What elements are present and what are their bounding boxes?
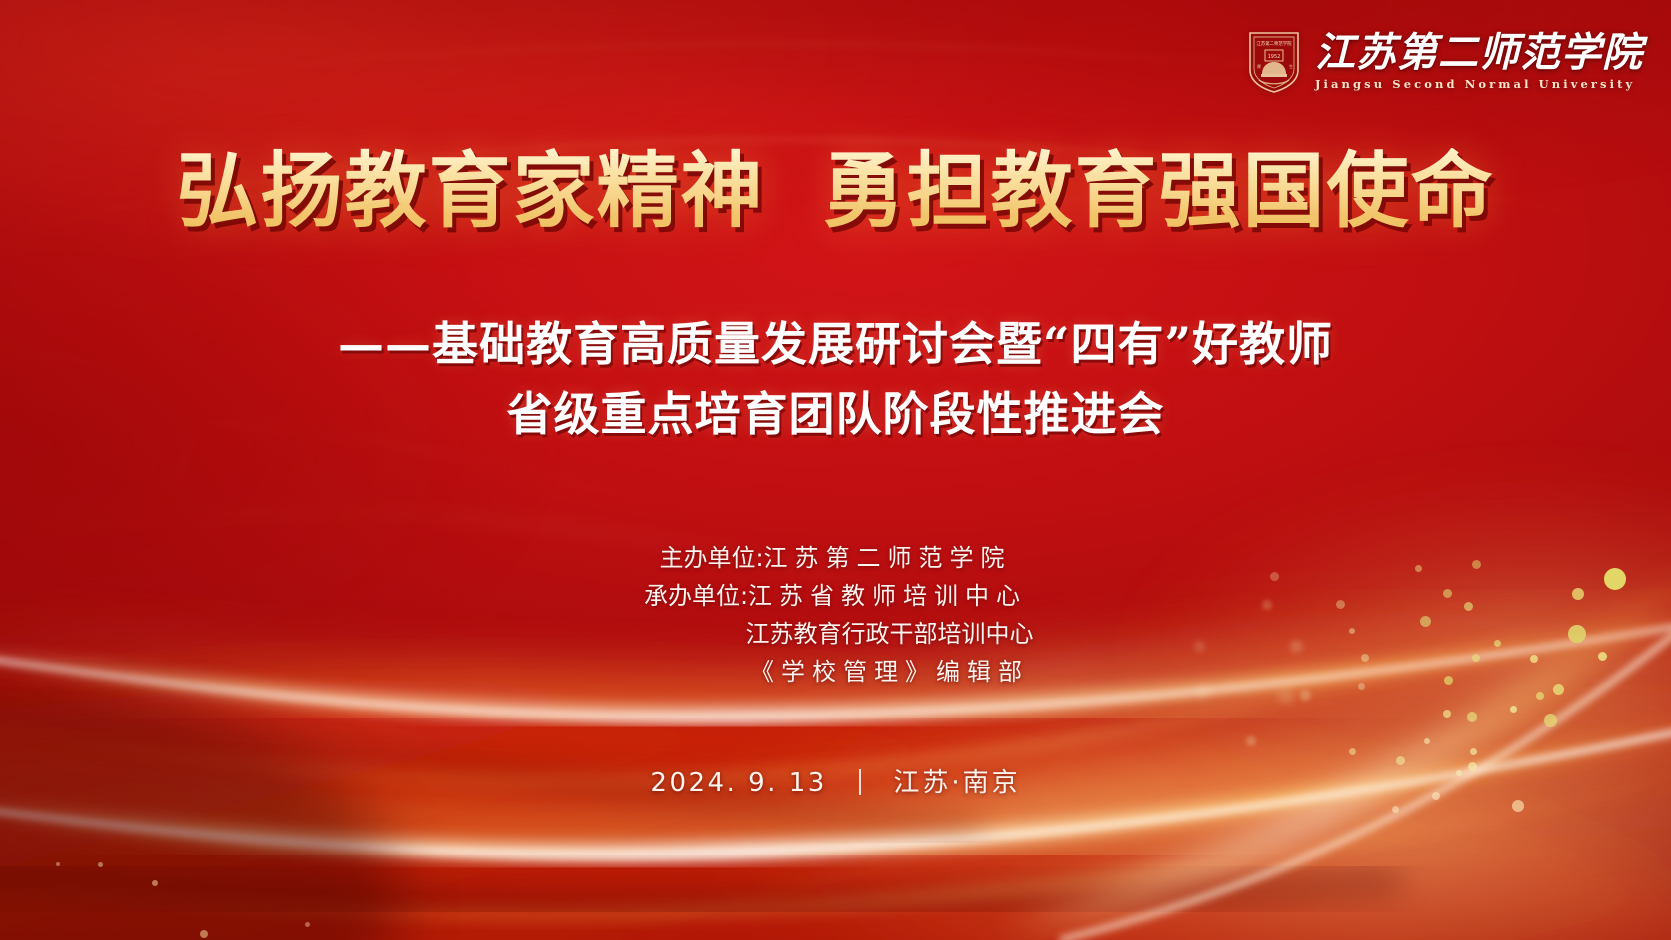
university-logo: 江苏第二师范学院 1952 厚 生 江苏第二师范学院 Jiangsu Secon… <box>1247 30 1643 94</box>
svg-text:江苏第二师范学院: 江苏第二师范学院 <box>1256 40 1292 47</box>
university-crest-icon: 江苏第二师范学院 1952 厚 生 <box>1247 30 1301 94</box>
organizer-row-extra-1: 江苏教育行政干部培训中心 <box>0 616 1671 654</box>
title-part-2: 勇担教育强国使命 <box>823 143 1495 239</box>
logo-text-block: 江苏第二师范学院 Jiangsu Second Normal Universit… <box>1315 33 1643 91</box>
svg-text:1952: 1952 <box>1268 54 1281 60</box>
organizer-value-host: 江苏第二师范学院 <box>764 544 1012 572</box>
meta-divider <box>859 769 861 795</box>
subtitle-line-2: 省级重点培育团队阶段性推进会 <box>0 380 1671 450</box>
event-date: 2024. 9. 13 <box>650 768 826 798</box>
organizer-value-extra-2: 《学校管理》编辑部 <box>750 658 1029 686</box>
organizer-row-host: 主办单位:江苏第二师范学院 <box>0 540 1671 578</box>
organizer-value-co-host: 江苏省教师培训中心 <box>748 582 1027 610</box>
svg-text:厚: 厚 <box>1257 64 1261 69</box>
title-part-1: 弘扬教育家精神 <box>176 143 764 239</box>
background-light-swooshes <box>0 0 1671 940</box>
svg-text:生: 生 <box>1289 63 1293 69</box>
event-meta: 2024. 9. 13 江苏·南京 <box>0 762 1671 799</box>
organizer-label-co-host: 承办单位: <box>644 582 748 610</box>
organizer-block: 主办单位:江苏第二师范学院 承办单位:江苏省教师培训中心 江苏教育行政干部培训中… <box>0 540 1671 692</box>
logo-name-en: Jiangsu Second Normal University <box>1315 79 1643 91</box>
event-location: 江苏·南京 <box>893 768 1020 798</box>
poster-canvas: 江苏第二师范学院 1952 厚 生 江苏第二师范学院 Jiangsu Secon… <box>0 0 1671 940</box>
organizer-row-extra-2: 《学校管理》编辑部 <box>0 654 1671 692</box>
page-title: 弘扬教育家精神勇担教育强国使命 <box>0 148 1671 234</box>
subtitle-line-1: ——基础教育高质量发展研讨会暨“四有”好教师 <box>338 317 1333 371</box>
page-subtitle: ——基础教育高质量发展研讨会暨“四有”好教师 省级重点培育团队阶段性推进会 <box>0 310 1671 450</box>
organizer-row-co-host: 承办单位:江苏省教师培训中心 <box>0 578 1671 616</box>
organizer-value-extra-1: 江苏教育行政干部培训中心 <box>746 620 1034 648</box>
organizer-label-host: 主办单位: <box>659 544 763 572</box>
logo-name-cn: 江苏第二师范学院 <box>1315 33 1643 73</box>
